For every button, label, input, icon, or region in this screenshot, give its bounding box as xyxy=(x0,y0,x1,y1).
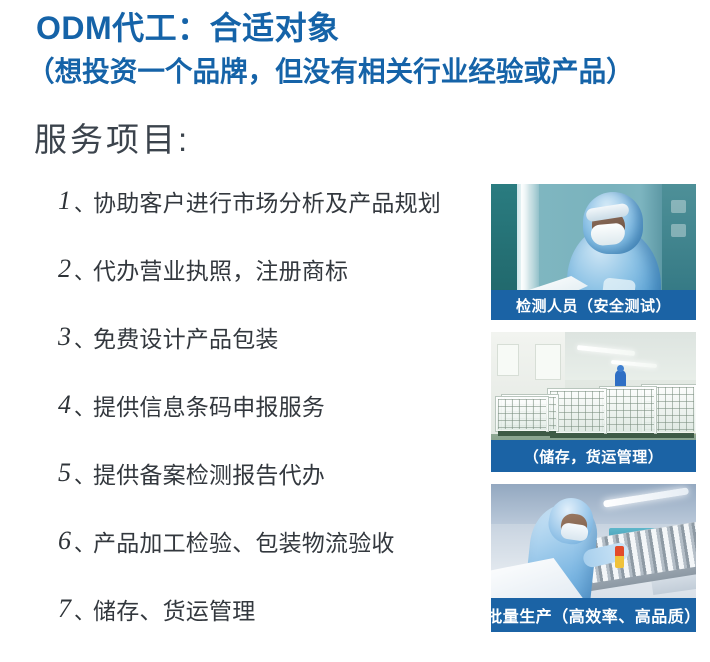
list-item-number: 4 xyxy=(58,390,71,420)
list-item-mark: 、 xyxy=(74,530,95,560)
photo-card-production: 批量生产（高效率、高品质） xyxy=(491,484,696,632)
list-item-mark: 、 xyxy=(74,394,95,424)
list-item-label: 产品加工检验、包装物流验收 xyxy=(93,528,395,558)
list-item-mark: 、 xyxy=(74,190,95,220)
services-heading: 服务项目: xyxy=(34,118,190,162)
list-item-number: 6 xyxy=(58,526,71,556)
list-item-number: 7 xyxy=(58,594,71,624)
list-item: 3 、 免费设计产品包装 xyxy=(0,322,480,390)
list-item: 6 、 产品加工检验、包装物流验收 xyxy=(0,526,480,594)
list-item-label: 储存、货运管理 xyxy=(93,596,255,626)
photo-caption: 批量生产（高效率、高品质） xyxy=(491,598,696,632)
photo-caption: （储存，货运管理） xyxy=(491,440,696,472)
list-item: 5 、 提供备案检测报告代办 xyxy=(0,458,480,526)
list-item-mark: 、 xyxy=(74,326,95,356)
list-item-mark: 、 xyxy=(74,598,95,628)
list-item: 1 、 协助客户进行市场分析及产品规划 xyxy=(0,186,480,254)
photo-card-storage: （储存，货运管理） xyxy=(491,332,696,472)
list-item-number: 2 xyxy=(58,254,71,284)
list-item-mark: 、 xyxy=(74,462,95,492)
list-item-label: 提供备案检测报告代办 xyxy=(93,460,325,490)
page-subtitle: （想投资一个品牌，但没有相关行业经验或产品） xyxy=(27,53,634,91)
photo-card-inspection: 检测人员（安全测试） xyxy=(491,184,696,320)
list-item: 7 、 储存、货运管理 xyxy=(0,594,480,662)
page-title: ODM代工：合适对象 xyxy=(36,8,340,48)
list-item: 4 、 提供信息条码申报服务 xyxy=(0,390,480,458)
list-item-label: 免费设计产品包装 xyxy=(93,324,279,354)
photo-caption: 检测人员（安全测试） xyxy=(491,290,696,320)
list-item-label: 协助客户进行市场分析及产品规划 xyxy=(93,188,441,218)
list-item-number: 3 xyxy=(58,322,71,352)
list-item-label: 代办营业执照，注册商标 xyxy=(93,256,348,286)
list-item: 2 、 代办营业执照，注册商标 xyxy=(0,254,480,322)
list-item-label: 提供信息条码申报服务 xyxy=(93,392,325,422)
list-item-mark: 、 xyxy=(74,258,95,288)
service-list: 1 、 协助客户进行市场分析及产品规划 2 、 代办营业执照，注册商标 3 、 … xyxy=(0,186,480,662)
list-item-number: 1 xyxy=(58,186,71,216)
list-item-number: 5 xyxy=(58,458,71,488)
